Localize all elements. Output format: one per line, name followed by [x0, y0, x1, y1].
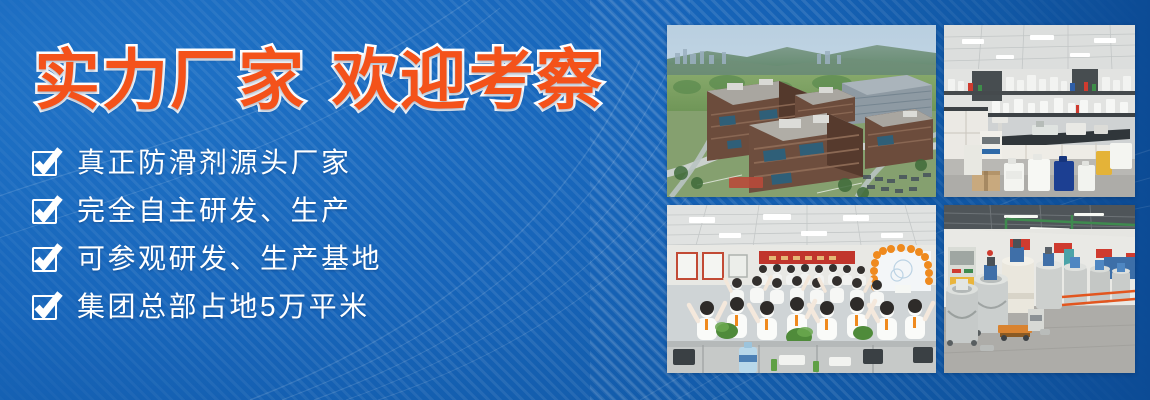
list-item-label: 集团总部占地5万平米: [77, 291, 370, 323]
list-item-label: 真正防滑剂源头厂家: [77, 147, 352, 179]
list-item-label: 完全自主研发、生产: [77, 195, 352, 227]
page-title: 实力厂家欢迎考察: [34, 44, 604, 116]
checkbox-checked-icon: [30, 243, 64, 274]
checkbox-checked-icon: [30, 291, 64, 322]
photo-campus-aerial: [667, 25, 936, 197]
list-item: 可参观研发、生产基地: [30, 238, 382, 279]
list-item: 集团总部占地5万平米: [30, 286, 382, 327]
left-content-column: 实力厂家欢迎考察 真正防滑剂源头厂家 完全自主研发、生: [0, 0, 660, 400]
checkbox-checked-icon: [30, 147, 64, 178]
headline-part-1: 实力厂家: [34, 43, 306, 117]
photo-laboratory: [944, 25, 1135, 197]
list-item: 完全自主研发、生产: [30, 190, 382, 231]
list-item-label: 可参观研发、生产基地: [77, 243, 382, 275]
promo-banner: 实力厂家欢迎考察 真正防滑剂源头厂家 完全自主研发、生: [0, 0, 1150, 400]
list-item: 真正防滑剂源头厂家: [30, 142, 382, 183]
photo-production: [944, 205, 1135, 373]
headline-part-2: 欢迎考察: [332, 43, 604, 117]
photo-grid: [667, 25, 1135, 373]
feature-bullet-list: 真正防滑剂源头厂家 完全自主研发、生产 可参观研发、: [30, 142, 382, 327]
checkbox-checked-icon: [30, 195, 64, 226]
photo-office-team: [667, 205, 936, 373]
